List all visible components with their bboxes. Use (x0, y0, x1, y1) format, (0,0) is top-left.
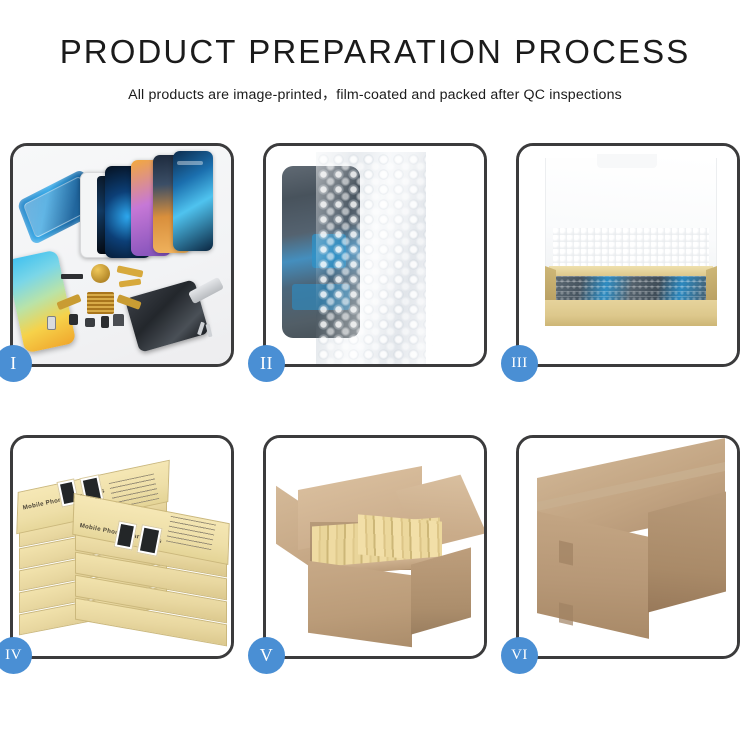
step-panel-5: V (263, 435, 487, 659)
small-part-2 (85, 318, 95, 327)
step-2-image (266, 146, 484, 364)
battery-connector (47, 316, 56, 330)
step-numeral-3: III (511, 355, 528, 372)
page-title: PRODUCT PREPARATION PROCESS (0, 33, 750, 71)
step-numeral-6: VI (511, 647, 528, 664)
wrapped-items-row (553, 272, 711, 302)
small-part-4 (113, 314, 124, 326)
phone-screen-teal (173, 151, 213, 251)
step-4-image: Mobile Phone Spare Parts Mobile Phone Sp… (13, 438, 231, 656)
product-preparation-infographic: PRODUCT PREPARATION PROCESS All products… (0, 0, 750, 750)
page-subtitle: All products are image-printed，film-coat… (0, 84, 750, 104)
step-numeral-5: V (260, 645, 274, 666)
box-inner-lip (549, 266, 713, 276)
step-badge-3: III (501, 345, 538, 382)
step-badge-2: II (248, 345, 285, 382)
plastic-sheen (316, 152, 426, 364)
speaker-component (91, 264, 110, 283)
step-panel-4: Mobile Phone Spare Parts Mobile Phone Sp… (10, 435, 234, 659)
step-badge-1: I (0, 345, 32, 382)
sealed-carton-side (648, 492, 726, 613)
flex-cable-2 (119, 278, 142, 287)
step-6-image (519, 438, 737, 656)
process-step-grid: I II (10, 143, 740, 683)
step-badge-6: VI (501, 637, 538, 674)
earpiece-component (61, 274, 83, 279)
carton-tab-1 (559, 540, 573, 565)
step-3-image (519, 146, 737, 364)
step-panel-1: I (10, 143, 234, 367)
step-5-image (266, 438, 484, 656)
small-part-1 (69, 314, 78, 325)
step-numeral-4: IV (5, 647, 22, 664)
step-1-image (13, 146, 231, 364)
step-panel-3: III (516, 143, 740, 367)
screw-2 (205, 324, 212, 338)
carton-front-panel (308, 561, 412, 648)
step-badge-5: V (248, 637, 285, 674)
header: PRODUCT PREPARATION PROCESS All products… (0, 0, 750, 104)
step-panel-6: VI (516, 435, 740, 659)
box-front-panel (545, 300, 717, 326)
box-lid-tab (597, 154, 657, 168)
retail-box-stack: Mobile Phone Spare Parts Mobile Phone Sp… (13, 438, 231, 656)
step-badge-4: IV (0, 637, 32, 674)
step-numeral-2: II (260, 353, 273, 374)
small-part-3 (101, 316, 109, 328)
carton-tab-2 (559, 602, 573, 625)
step-panel-2: II (263, 143, 487, 367)
mesh-grille-component (87, 292, 114, 314)
flex-cable-1 (117, 265, 144, 277)
loaded-boxes-row-2 (358, 514, 442, 561)
repair-tool (188, 277, 224, 304)
step-numeral-1: I (10, 353, 17, 374)
